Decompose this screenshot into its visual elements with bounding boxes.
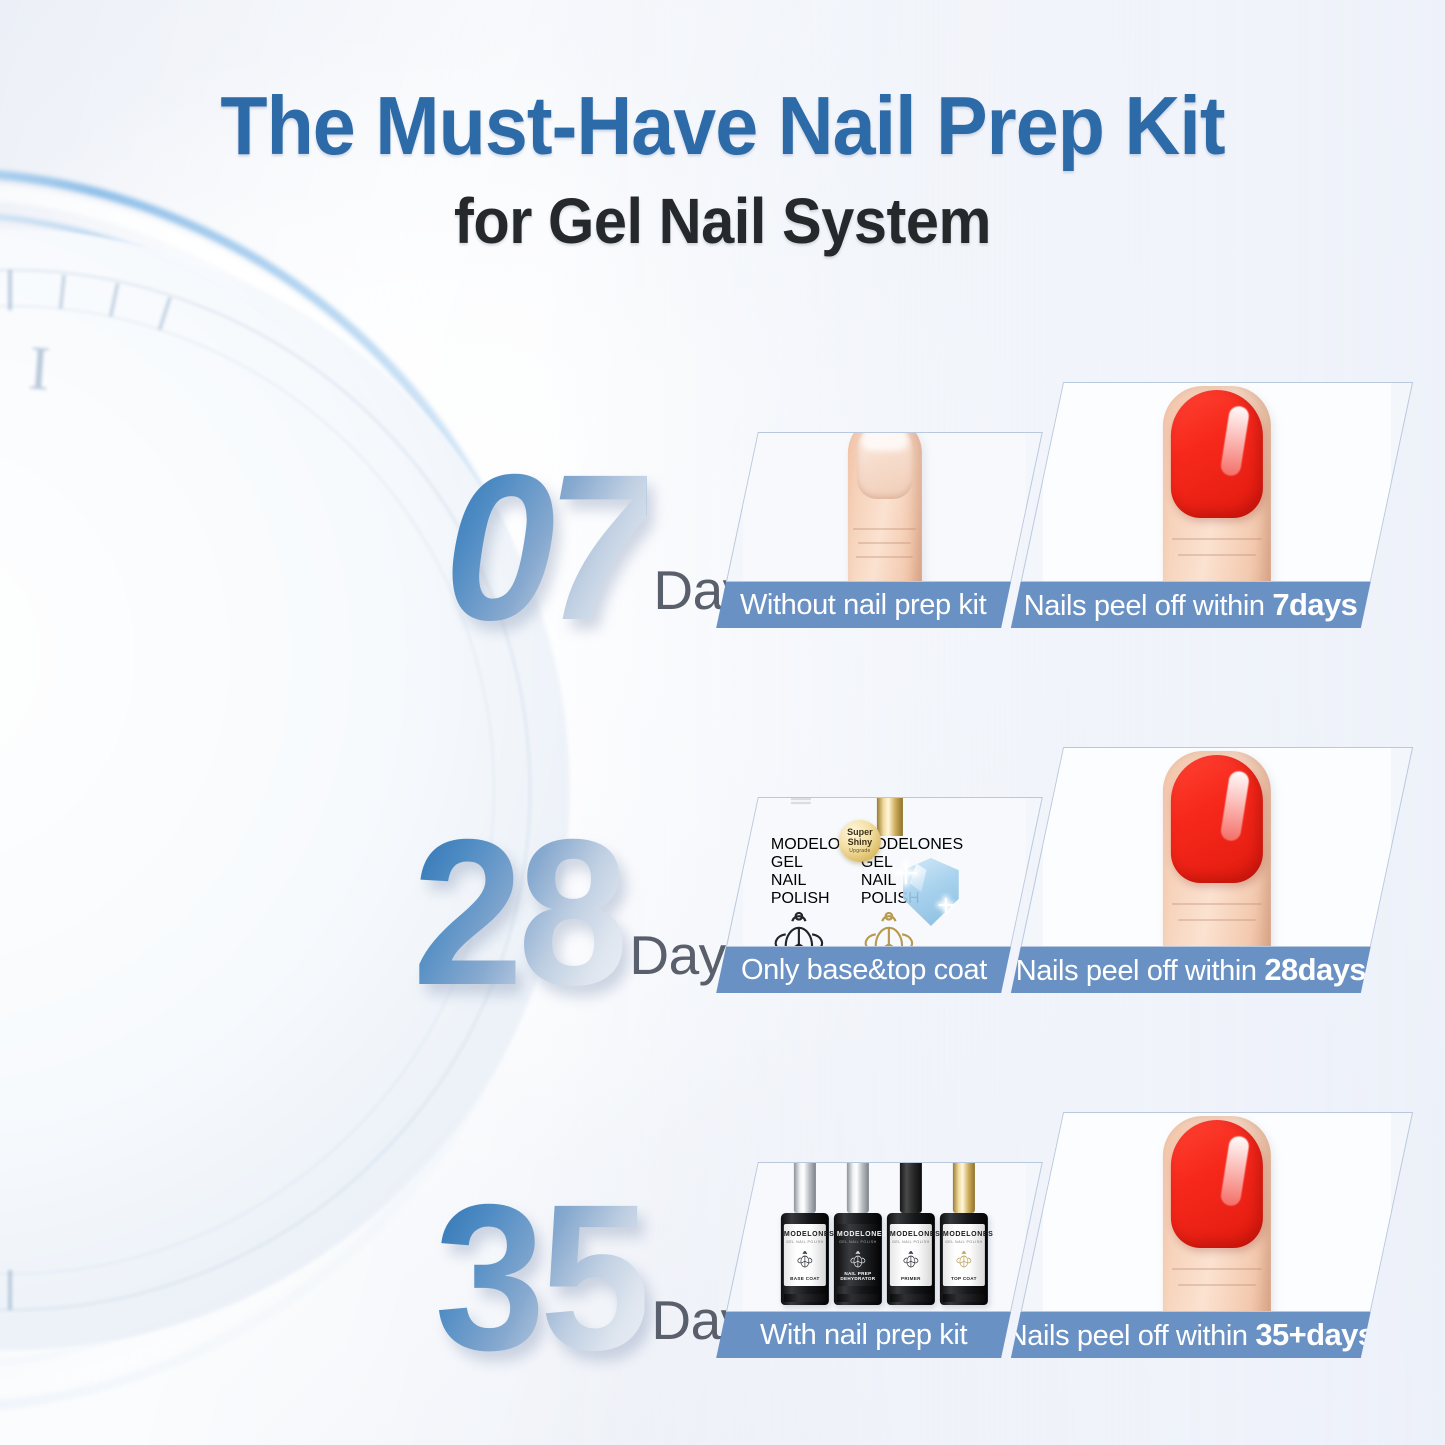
panel-pair: MODELONES GEL NAIL POLISH [737, 1112, 1387, 1358]
panel-caption: Only base&top coat [716, 947, 1011, 993]
base-coat-bottle: MODELONES GEL NAIL POLISH [771, 836, 831, 940]
bottle-row: MODELONES GEL NAIL POLISH [743, 1163, 1026, 1305]
panel-pair: MODELONES GEL NAIL POLISH [737, 747, 1387, 993]
caption-text: Without nail prep kit [740, 589, 986, 621]
day-count-number: 35 [434, 1193, 645, 1364]
page-title: The Must-Have Nail Prep Kit [51, 0, 1395, 167]
red-nail-finger-illustration [1163, 386, 1271, 581]
bottle-label-name: BASE COAT [784, 1276, 826, 1282]
bee-logo-icon [796, 1250, 813, 1270]
caption-highlight: 28days [1264, 952, 1366, 987]
day-count-number: 28 [412, 828, 623, 999]
bottle-label-name: TOP COAT [943, 1276, 985, 1282]
badge-line3: Upgrade [849, 848, 870, 854]
comparison-row-28days: 28 Days MODELONES [0, 735, 1445, 985]
caption-text: Only base&top coat [741, 954, 987, 986]
red-painted-nail-photo [1021, 1112, 1414, 1312]
page-subtitle: for Gel Nail System [51, 167, 1395, 253]
nail-prep-dehydrator-bottle: MODELONES GEL NAIL POLISH [834, 1163, 882, 1305]
caption-text: With nail prep kit [760, 1319, 967, 1351]
base-and-top-coat-bottles-photo: MODELONES GEL NAIL POLISH [726, 797, 1043, 947]
bottle-label-name: NAIL PREP DEHYDRATOR [837, 1271, 879, 1282]
caption-text: Nails peel off within [1011, 1320, 1256, 1352]
bee-logo-icon [861, 908, 917, 946]
panel-caption: With nail prep kit [716, 1312, 1011, 1358]
bare-nail-finger-photo [726, 432, 1043, 582]
comparison-row-7days: 07 Days Without nail prep kit [0, 370, 1445, 620]
day-count-block: 28 Days [408, 809, 753, 999]
red-painted-nail-photo [1021, 747, 1414, 947]
bare-finger-illustration [847, 433, 921, 581]
panel-base-top-coat: MODELONES GEL NAIL POLISH [716, 797, 1043, 993]
bottle-label-name: PRIMER [890, 1276, 932, 1282]
red-painted-nail-photo [1021, 382, 1414, 582]
top-coat-bottle: MODELONES GEL NAIL POLISH [940, 1163, 988, 1305]
full-nail-prep-kit-bottles-photo: MODELONES GEL NAIL POLISH [726, 1162, 1043, 1312]
base-coat-bottle: MODELONES GEL NAIL POLISH [781, 1163, 829, 1305]
page-header: The Must-Have Nail Prep Kit for Gel Nail… [0, 0, 1445, 253]
sparkle-icon [895, 862, 917, 884]
panel-caption: Nails peel off within 35+days [1011, 1312, 1371, 1358]
red-nail-finger-illustration [1163, 1116, 1271, 1311]
bee-logo-icon [955, 1250, 972, 1270]
bottle-brand: MODELONES [771, 836, 827, 854]
red-nail-finger-illustration [1163, 751, 1271, 946]
panel-result-28days: Nails peel off within 28days [1011, 747, 1413, 993]
caption-text: Nails peel off within [1024, 590, 1273, 622]
caption-text: Nails peel off within [1016, 955, 1265, 987]
bee-logo-icon [902, 1250, 919, 1270]
day-count-number: 07 [444, 463, 647, 634]
panel-caption: Nails peel off within 28days [1011, 947, 1371, 993]
badge-line2: Shiny [848, 838, 873, 847]
primer-bottle: MODELONES GEL NAIL POLISH [887, 1163, 935, 1305]
sparkle-icon [939, 898, 953, 912]
panel-pair: Without nail prep kit Nails peel off wit… [737, 382, 1387, 628]
panel-with-kit: MODELONES GEL NAIL POLISH [716, 1162, 1043, 1358]
bottle-brand: MODELONES [890, 1231, 932, 1238]
caption-highlight: 7days [1273, 587, 1358, 622]
bee-logo-icon [849, 1250, 866, 1270]
bottle-brand: MODELONES [943, 1231, 985, 1238]
panel-caption: Nails peel off within 7days [1011, 582, 1371, 628]
bottle-brand: MODELONES [784, 1231, 826, 1238]
panel-caption: Without nail prep kit [716, 582, 1011, 628]
panel-result-35days: Nails peel off within 35+days [1011, 1112, 1413, 1358]
comparison-row-35days: 35 Days MODELONES GEL NAIL POLISH [0, 1100, 1445, 1350]
panel-result-7days: Nails peel off within 7days [1011, 382, 1413, 628]
super-shiny-badge: Super Shiny Upgrade [839, 820, 881, 862]
bottle-brand: MODELONES [837, 1231, 879, 1238]
panel-without-kit: Without nail prep kit [716, 432, 1043, 628]
caption-highlight: 35+days [1256, 1317, 1371, 1352]
bee-logo-icon [771, 908, 827, 946]
